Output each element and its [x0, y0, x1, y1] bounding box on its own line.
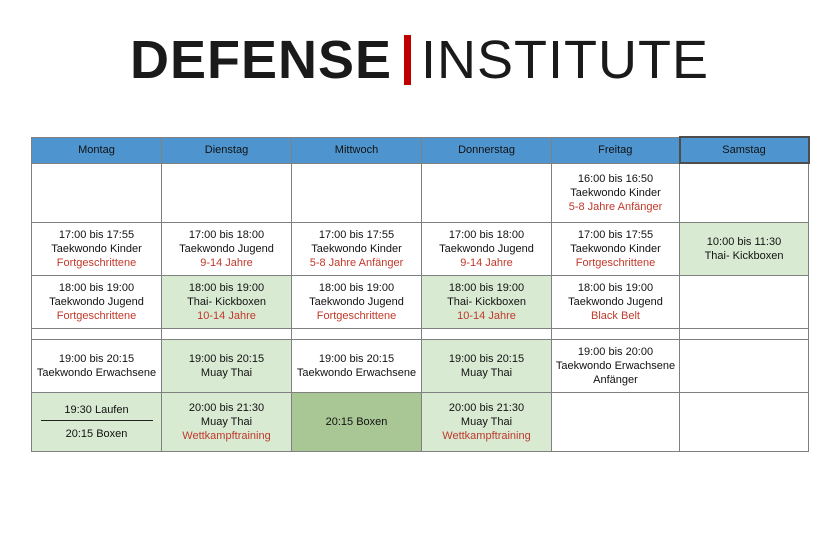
schedule-cell-dienstag-4: 19:00 bis 20:15Muay Thai: [162, 340, 292, 393]
schedule-cell-mittwoch-5: 20:15 Boxen: [292, 393, 422, 452]
cell-line: 18:00 bis 19:00: [32, 281, 161, 295]
cell-line: Taekwondo Erwachsene: [292, 366, 421, 380]
cell-line: 5-8 Jahre Anfänger: [292, 256, 421, 270]
schedule-cell-montag-2: 17:00 bis 17:55Taekwondo KinderFortgesch…: [32, 223, 162, 276]
schedule-cell-mittwoch-1: [292, 163, 422, 223]
cell-line: 17:00 bis 18:00: [162, 228, 291, 242]
cell-line: 16:00 bis 16:50: [552, 172, 679, 186]
cell-line: Taekwondo Erwachsene: [32, 366, 161, 380]
day-header-montag: Montag: [32, 137, 162, 163]
schedule-cell-samstag-3: [680, 276, 809, 329]
schedule-row: 18:00 bis 19:00Taekwondo JugendFortgesch…: [32, 276, 809, 329]
cell-line: 5-8 Jahre Anfänger: [552, 200, 679, 214]
cell-line: 18:00 bis 19:00: [552, 281, 679, 295]
schedule-cell-freitag-5: [552, 393, 680, 452]
cell-line: Taekwondo Jugend: [162, 242, 291, 256]
cell-line: 20:00 bis 21:30: [162, 401, 291, 415]
cell-line: Thai- Kickboxen: [680, 249, 808, 263]
cell-line: Taekwondo Jugend: [422, 242, 551, 256]
cell-line: Fortgeschrittene: [32, 256, 161, 270]
schedule-cell-donnerstag-4: 19:00 bis 20:15Muay Thai: [422, 340, 552, 393]
schedule-cell-donnerstag-2: 17:00 bis 18:00Taekwondo Jugend9-14 Jahr…: [422, 223, 552, 276]
schedule-spacer-cell: [292, 329, 422, 340]
cell-line: 19:00 bis 20:15: [32, 352, 161, 366]
schedule-cell-donnerstag-3: 18:00 bis 19:00Thai- Kickboxen10-14 Jahr…: [422, 276, 552, 329]
schedule-cell-freitag-3: 18:00 bis 19:00Taekwondo JugendBlack Bel…: [552, 276, 680, 329]
day-header-mittwoch: Mittwoch: [292, 137, 422, 163]
underline-rule: [41, 420, 153, 421]
cell-line: 10-14 Jahre: [162, 309, 291, 323]
schedule-header-row: Montag Dienstag Mittwoch Donnerstag Frei…: [32, 137, 809, 163]
cell-line: 20:00 bis 21:30: [422, 401, 551, 415]
cell-line: Muay Thai: [162, 366, 291, 380]
schedule-body: 16:00 bis 16:50Taekwondo Kinder5-8 Jahre…: [32, 163, 809, 452]
schedule-cell-donnerstag-1: [422, 163, 552, 223]
schedule-spacer-cell: [422, 329, 552, 340]
schedule-cell-montag-3: 18:00 bis 19:00Taekwondo JugendFortgesch…: [32, 276, 162, 329]
cell-line: Taekwondo Jugend: [32, 295, 161, 309]
cell-line: 10:00 bis 11:30: [680, 235, 808, 249]
schedule-container: Montag Dienstag Mittwoch Donnerstag Frei…: [31, 136, 808, 452]
schedule-cell-samstag-4: [680, 340, 809, 393]
cell-line: Thai- Kickboxen: [162, 295, 291, 309]
logo-word-institute: INSTITUTE: [421, 33, 709, 87]
schedule-cell-donnerstag-5: 20:00 bis 21:30Muay ThaiWettkampftrainin…: [422, 393, 552, 452]
cell-line: Muay Thai: [162, 415, 291, 429]
cell-line: Wettkampftraining: [162, 429, 291, 443]
cell-line: Anfänger: [552, 373, 679, 387]
cell-line: 19:00 bis 20:15: [292, 352, 421, 366]
schedule-spacer-cell: [32, 329, 162, 340]
cell-line: 20:15 Boxen: [292, 415, 421, 429]
schedule-cell-mittwoch-4: 19:00 bis 20:15Taekwondo Erwachsene: [292, 340, 422, 393]
schedule-cell-mittwoch-3: 18:00 bis 19:00Taekwondo JugendFortgesch…: [292, 276, 422, 329]
cell-line: 17:00 bis 17:55: [32, 228, 161, 242]
logo-word-defense: DEFENSE: [130, 33, 392, 87]
logo-header: DEFENSE INSTITUTE: [0, 0, 839, 96]
schedule-cell-samstag-5: [680, 393, 809, 452]
cell-line: Taekwondo Jugend: [552, 295, 679, 309]
cell-line: 17:00 bis 18:00: [422, 228, 551, 242]
cell-line: Muay Thai: [422, 366, 551, 380]
cell-line: 10-14 Jahre: [422, 309, 551, 323]
day-header-freitag: Freitag: [552, 137, 680, 163]
cell-line: 18:00 bis 19:00: [162, 281, 291, 295]
cell-line: 17:00 bis 17:55: [292, 228, 421, 242]
schedule-cell-freitag-1: 16:00 bis 16:50Taekwondo Kinder5-8 Jahre…: [552, 163, 680, 223]
schedule-row: 16:00 bis 16:50Taekwondo Kinder5-8 Jahre…: [32, 163, 809, 223]
schedule-cell-montag-1: [32, 163, 162, 223]
schedule-row: 17:00 bis 17:55Taekwondo KinderFortgesch…: [32, 223, 809, 276]
cell-line: Taekwondo Kinder: [552, 242, 679, 256]
cell-line: 19:00 bis 20:00: [552, 345, 679, 359]
schedule-spacer-cell: [552, 329, 680, 340]
cell-line: Taekwondo Kinder: [32, 242, 161, 256]
cell-line: Wettkampftraining: [422, 429, 551, 443]
schedule-cell-dienstag-1: [162, 163, 292, 223]
cell-line: Fortgeschrittene: [32, 309, 161, 323]
schedule-cell-mittwoch-2: 17:00 bis 17:55Taekwondo Kinder5-8 Jahre…: [292, 223, 422, 276]
schedule-spacer-cell: [162, 329, 292, 340]
schedule-cell-freitag-4: 19:00 bis 20:00Taekwondo ErwachseneAnfän…: [552, 340, 680, 393]
cell-line: 17:00 bis 17:55: [552, 228, 679, 242]
schedule-table: Montag Dienstag Mittwoch Donnerstag Frei…: [31, 136, 810, 452]
schedule-row: 19:00 bis 20:15Taekwondo Erwachsene19:00…: [32, 340, 809, 393]
cell-line: 19:00 bis 20:15: [422, 352, 551, 366]
schedule-cell-dienstag-2: 17:00 bis 18:00Taekwondo Jugend9-14 Jahr…: [162, 223, 292, 276]
cell-line: 9-14 Jahre: [422, 256, 551, 270]
schedule-cell-montag-5: 19:30 Laufen20:15 Boxen: [32, 393, 162, 452]
cell-line: Taekwondo Kinder: [292, 242, 421, 256]
schedule-cell-freitag-2: 17:00 bis 17:55Taekwondo KinderFortgesch…: [552, 223, 680, 276]
schedule-cell-dienstag-3: 18:00 bis 19:00Thai- Kickboxen10-14 Jahr…: [162, 276, 292, 329]
cell-line: Fortgeschrittene: [552, 256, 679, 270]
cell-line: 19:00 bis 20:15: [162, 352, 291, 366]
cell-line: 19:30 Laufen: [32, 403, 161, 417]
cell-line: Taekwondo Kinder: [552, 186, 679, 200]
cell-line: Fortgeschrittene: [292, 309, 421, 323]
day-header-dienstag: Dienstag: [162, 137, 292, 163]
cell-line: 9-14 Jahre: [162, 256, 291, 270]
cell-line: 18:00 bis 19:00: [292, 281, 421, 295]
schedule-cell-dienstag-5: 20:00 bis 21:30Muay ThaiWettkampftrainin…: [162, 393, 292, 452]
cell-line: Muay Thai: [422, 415, 551, 429]
schedule-spacer-cell: [680, 329, 809, 340]
logo-divider-bar: [404, 35, 411, 85]
brand-logo: DEFENSE INSTITUTE: [130, 33, 709, 87]
cell-line: Thai- Kickboxen: [422, 295, 551, 309]
schedule-spacer-row: [32, 329, 809, 340]
schedule-cell-samstag-2: 10:00 bis 11:30Thai- Kickboxen: [680, 223, 809, 276]
cell-line: Black Belt: [552, 309, 679, 323]
day-header-samstag: Samstag: [680, 137, 809, 163]
cell-line: 20:15 Boxen: [32, 427, 161, 441]
cell-line: Taekwondo Erwachsene: [552, 359, 679, 373]
schedule-cell-montag-4: 19:00 bis 20:15Taekwondo Erwachsene: [32, 340, 162, 393]
cell-line: Taekwondo Jugend: [292, 295, 421, 309]
day-header-donnerstag: Donnerstag: [422, 137, 552, 163]
schedule-row: 19:30 Laufen20:15 Boxen20:00 bis 21:30Mu…: [32, 393, 809, 452]
cell-line: 18:00 bis 19:00: [422, 281, 551, 295]
schedule-cell-samstag-1: [680, 163, 809, 223]
